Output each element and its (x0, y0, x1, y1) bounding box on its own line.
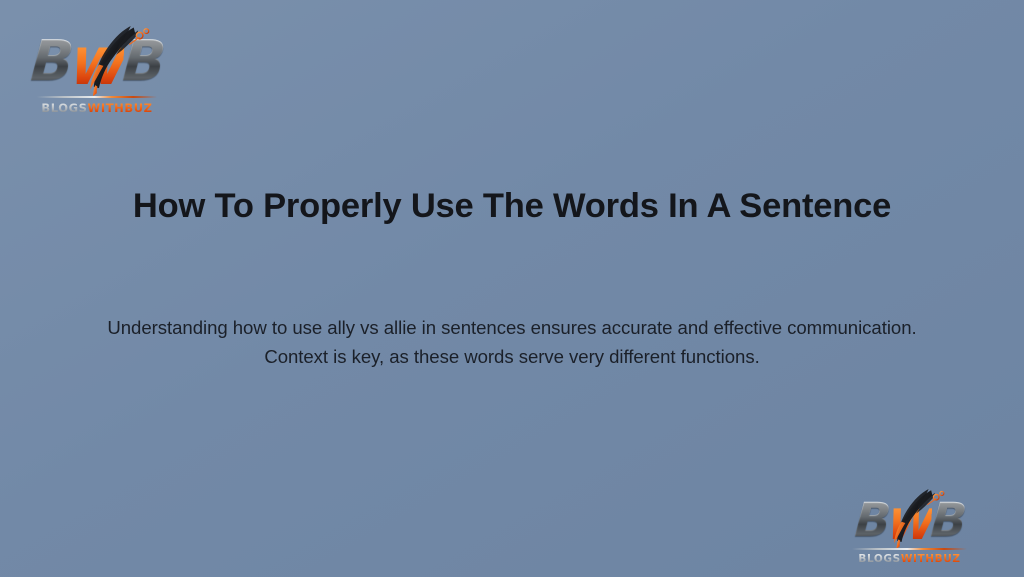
brand-tagline: BLOGSWITHBUZ (841, 554, 978, 565)
brand-tagline-part-two: WITHBUZ (901, 553, 961, 565)
slide-canvas: B W B (0, 0, 1024, 577)
monogram-letter-b-left: B (853, 497, 889, 544)
brand-logo-bottom-right[interactable]: B W B (841, 492, 978, 564)
monogram-letter-b-right: B (930, 497, 966, 544)
monogram-letter-w: W (886, 504, 932, 546)
brand-monogram-letters: B W B (841, 492, 978, 544)
slide-content: How To Properly Use The Words In A Sente… (0, 0, 1024, 577)
slide-body-text: Understanding how to use ally vs allie i… (84, 313, 940, 371)
page-title: How To Properly Use The Words In A Sente… (52, 186, 972, 227)
brand-monogram: B W B (841, 492, 978, 544)
brand-tagline-part-one: BLOGS (858, 553, 900, 565)
brand-divider-rule (852, 548, 967, 550)
